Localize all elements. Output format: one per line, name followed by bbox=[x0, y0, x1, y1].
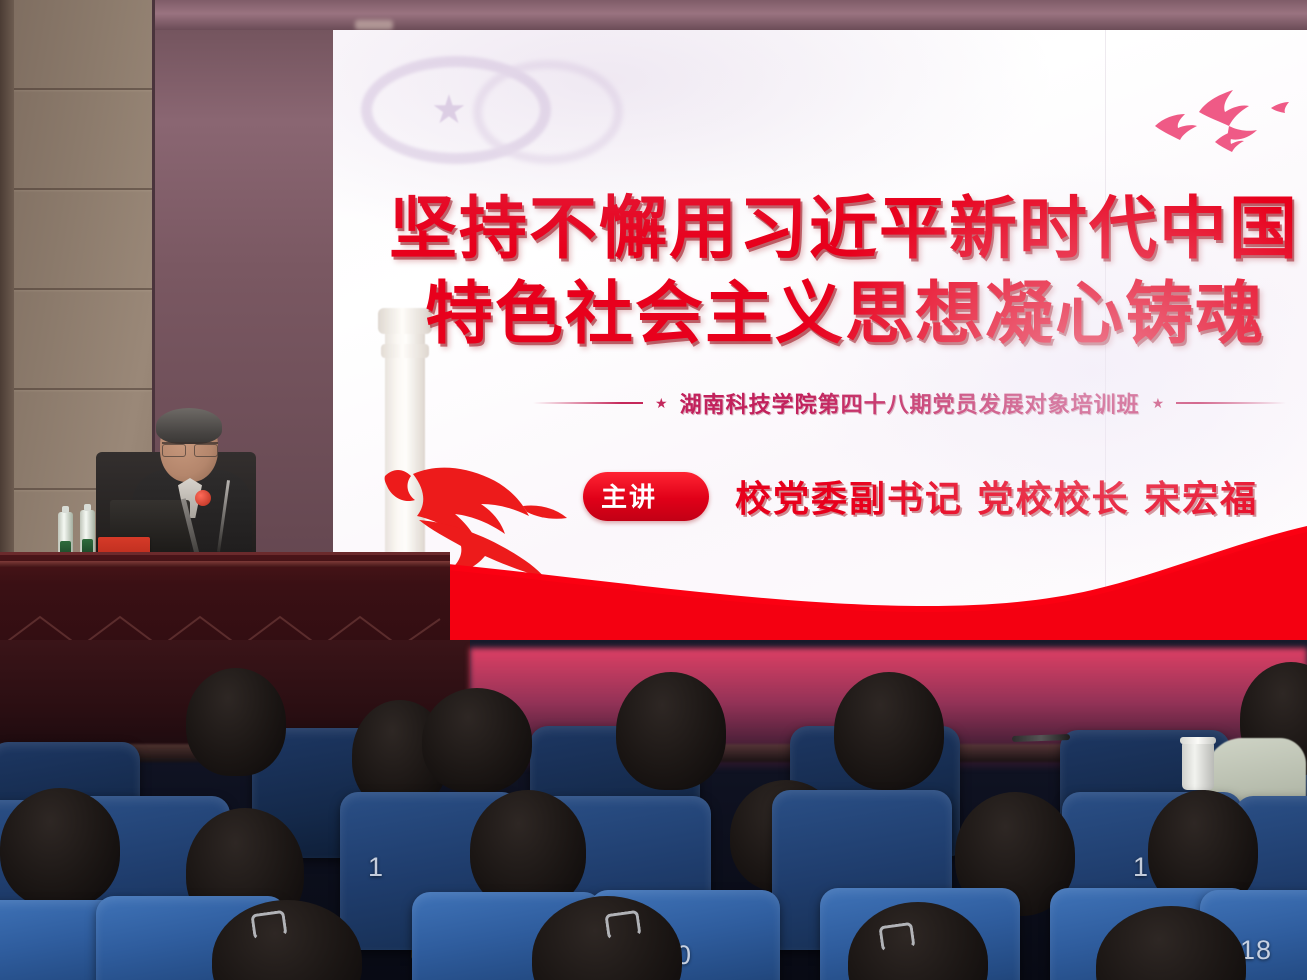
audience-head bbox=[834, 672, 944, 790]
rule-left bbox=[533, 402, 643, 404]
led-screen: 坚持不懈用习近平新时代中国 特色社会主义思想凝心铸魂 ★ 湖南科技学院第四十八期… bbox=[333, 30, 1307, 650]
audience-head bbox=[422, 688, 532, 793]
subtitle-row: ★ 湖南科技学院第四十八期党员发展对象培训班 ★ bbox=[533, 387, 1286, 419]
water-bottle bbox=[58, 512, 73, 557]
audience-head bbox=[616, 672, 726, 790]
hair-clip bbox=[878, 922, 915, 952]
subtitle-text: 湖南科技学院第四十八期党员发展对象培训班 bbox=[680, 387, 1140, 419]
lecture-hall-scene: 坚持不懈用习近平新时代中国 特色社会主义思想凝心铸魂 ★ 湖南科技学院第四十八期… bbox=[0, 0, 1307, 980]
microphone-head bbox=[195, 490, 211, 506]
seat-number-1b: 1 bbox=[1133, 852, 1149, 883]
speaker-name-title: 校党委副书记 党校校长 宋宏福 bbox=[735, 470, 1258, 522]
speaker-row: 主讲 校党委副书记 党校校长 宋宏福 bbox=[583, 470, 1258, 522]
speaker-badge: 主讲 bbox=[583, 472, 709, 521]
star-left-icon: ★ bbox=[655, 395, 668, 412]
rule-right bbox=[1176, 402, 1286, 404]
hair-clip bbox=[250, 910, 287, 940]
hair-clip bbox=[604, 910, 641, 940]
frame-glint bbox=[355, 20, 393, 30]
white-cup bbox=[1182, 742, 1214, 790]
frame-top-bar bbox=[155, 0, 1307, 30]
star-right-icon: ★ bbox=[1152, 395, 1165, 412]
audience-head bbox=[186, 668, 286, 776]
audience-head bbox=[0, 788, 120, 908]
headline-line-2: 特色社会主义思想凝心铸魂 bbox=[425, 258, 1265, 357]
seat-number-1: 1 bbox=[368, 852, 384, 883]
red-wave-band bbox=[333, 520, 1307, 650]
water-bottle bbox=[80, 510, 95, 555]
glasses-icon bbox=[162, 442, 218, 454]
